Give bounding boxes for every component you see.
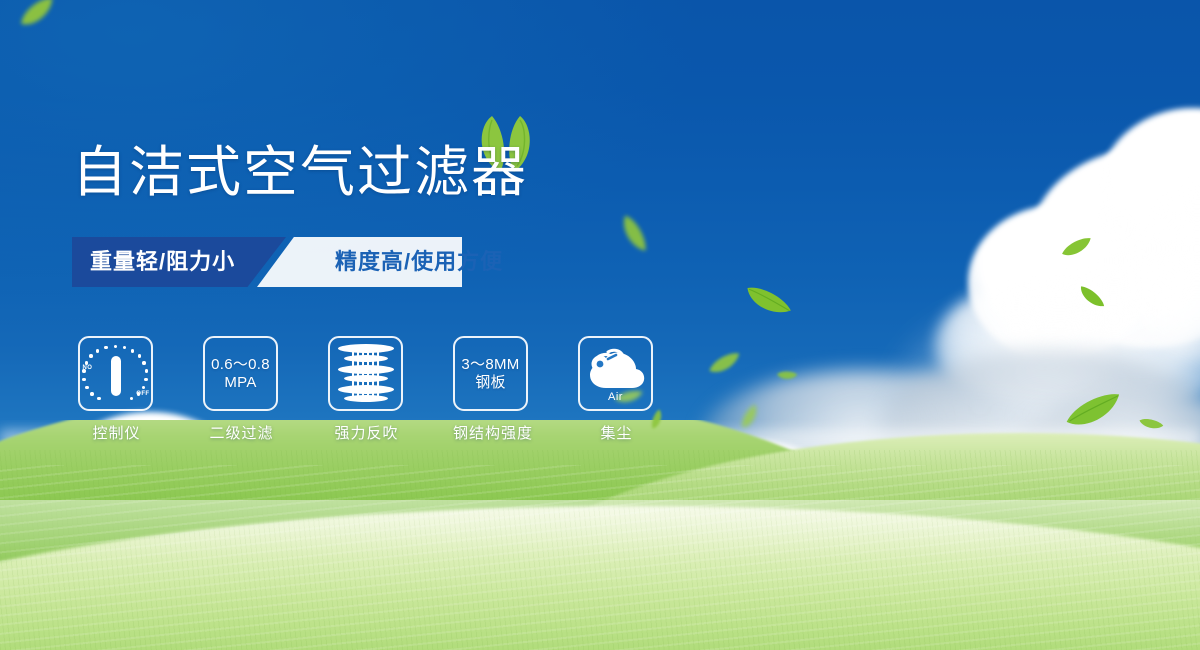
feature-icon-box: 0.6～0.8 MPA [203, 336, 278, 411]
product-banner: 自洁式空气过滤器 重量轻/阻力小 精度高/使用方便 [0, 0, 1200, 650]
gauge-label-off: OFF [136, 391, 149, 397]
steel-text-icon: 3～8MM 钢板 [461, 356, 519, 391]
feature-label: 钢结构强度 [453, 422, 530, 443]
air-label: Air [586, 391, 646, 403]
feature-item-steel[interactable]: 3～8MM 钢板 钢结构强度 [453, 336, 530, 443]
feature-label: 控制仪 [78, 422, 155, 443]
gauge-icon: NO OFF [85, 343, 147, 405]
page-title: 自洁式空气过滤器 [72, 145, 528, 200]
filter-cartridge-icon [338, 344, 394, 404]
feature-icon-box: Air [578, 336, 653, 411]
subtitle-right-text: 精度高/使用方便 [335, 237, 503, 287]
feature-icon-box: 3～8MM 钢板 [453, 336, 528, 411]
feature-item-dust[interactable]: Air 集尘 [578, 336, 655, 443]
cloud-air-icon: Air [586, 346, 646, 402]
feature-label: 二级过滤 [203, 422, 280, 443]
gauge-label-on: NO [83, 365, 93, 371]
feature-icon-box [328, 336, 403, 411]
banner-content: 自洁式空气过滤器 重量轻/阻力小 精度高/使用方便 [0, 0, 1200, 650]
pressure-line-1: 0.6～0.8 [211, 356, 270, 374]
feature-icon-box: NO OFF [78, 336, 153, 411]
feature-item-backblow[interactable]: 强力反吹 [328, 336, 405, 443]
subtitle-left-text: 重量轻/阻力小 [90, 237, 235, 287]
pressure-line-2: MPA [211, 374, 270, 392]
gauge-needle [111, 356, 121, 396]
feature-item-pressure[interactable]: 0.6～0.8 MPA 二级过滤 [203, 336, 280, 443]
steel-line-2: 钢板 [461, 374, 519, 392]
subtitle-bar: 重量轻/阻力小 精度高/使用方便 [72, 237, 462, 287]
steel-line-1: 3～8MM [461, 356, 519, 374]
feature-label: 强力反吹 [328, 422, 405, 443]
pressure-text-icon: 0.6～0.8 MPA [211, 356, 270, 391]
feature-label: 集尘 [578, 422, 655, 443]
feature-item-controller[interactable]: NO OFF 控制仪 [78, 336, 155, 443]
